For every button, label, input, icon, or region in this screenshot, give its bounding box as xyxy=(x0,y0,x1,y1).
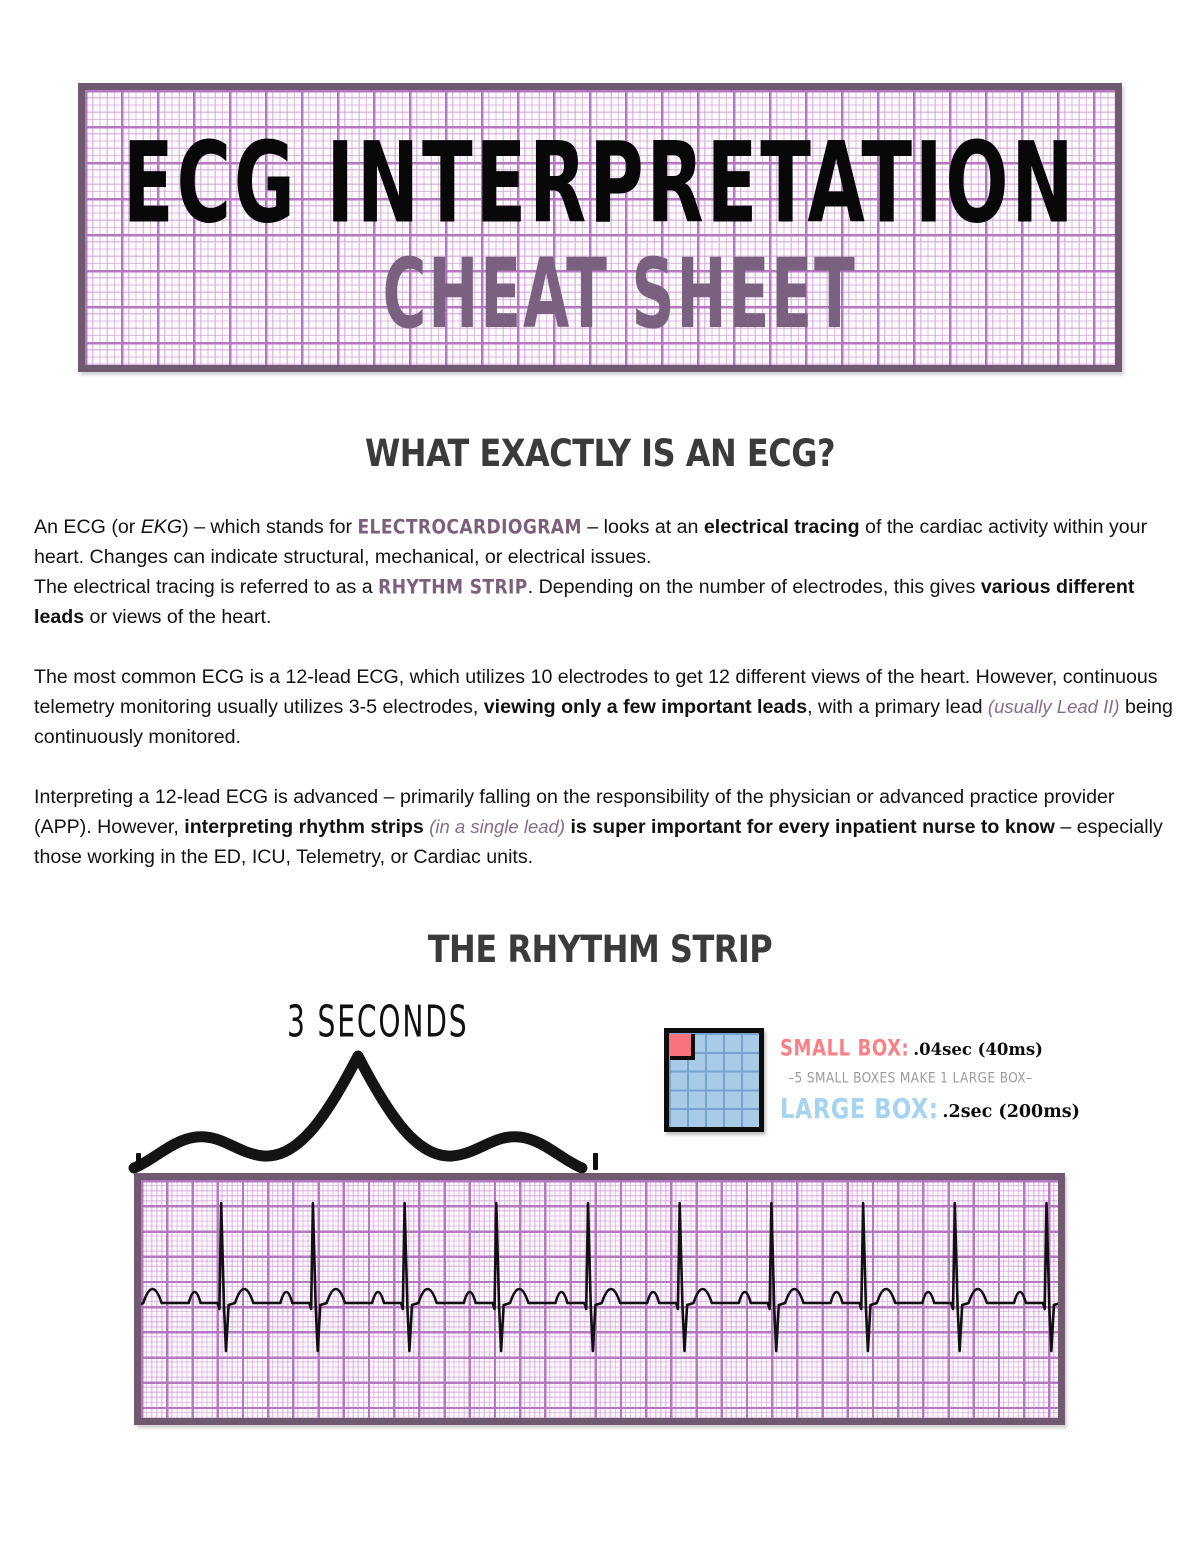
brace-tick-right xyxy=(593,1153,598,1170)
paragraph-2: The electrical tracing is referred to as… xyxy=(34,572,1174,632)
p4-accent-in-a-single-lead: (in a single lead) xyxy=(429,816,565,837)
header-banner: ECG INTERPRETATION CHEAT SHEET xyxy=(78,83,1122,372)
legend-row-middle-note: –5 SMALL BOXES MAKE 1 LARGE BOX– xyxy=(788,1069,1032,1087)
legend-small-box-label: SMALL BOX: xyxy=(780,1035,909,1061)
legend-row-small-box: SMALL BOX:.04sec (40ms) xyxy=(780,1036,1043,1060)
p4-bold-interpreting-rhythm-strips: interpreting rhythm strips xyxy=(184,816,424,838)
brace-tick-left xyxy=(136,1153,141,1170)
three-seconds-brace-icon xyxy=(128,1040,608,1175)
box-size-legend: SMALL BOX:.04sec (40ms) –5 SMALL BOXES M… xyxy=(664,1028,1004,1150)
p1-seg-a: An ECG (or xyxy=(34,516,141,538)
ecg-rhythm-strip xyxy=(134,1173,1065,1425)
p2-seg-b: . Depending on the number of electrodes,… xyxy=(528,576,981,598)
p1-seg-b: ) – which stands for xyxy=(182,516,357,538)
legend-large-box-label: LARGE BOX: xyxy=(780,1093,938,1125)
p1-bold-electrical-tracing: electrical tracing xyxy=(704,516,860,538)
p2-seg-c: or views of the heart. xyxy=(84,606,271,628)
legend-small-box-value: .04sec (40ms) xyxy=(913,1040,1043,1059)
p2-seg-a: The electrical tracing is referred to as… xyxy=(34,576,378,598)
legend-middle-note: –5 SMALL BOXES MAKE 1 LARGE BOX– xyxy=(788,1069,1032,1086)
paragraph-spacer-2 xyxy=(34,752,1174,782)
ecg-waveform-icon xyxy=(141,1180,1058,1418)
paragraph-3: The most common ECG is a 12-lead ECG, wh… xyxy=(34,662,1174,752)
legend-large-box-value: .2sec (200ms) xyxy=(942,1102,1079,1122)
banner-title-secondary: CHEAT SHEET xyxy=(383,246,857,343)
p2-accent-rhythm-strip: RHYTHM STRIP xyxy=(378,571,528,603)
banner-inner: ECG INTERPRETATION CHEAT SHEET xyxy=(85,90,1115,365)
p1-ekg-italic: EKG xyxy=(141,516,182,538)
p3-seg-b: , with a primary lead xyxy=(807,696,988,718)
body-copy: An ECG (or EKG) – which stands for ELECT… xyxy=(34,512,1174,872)
p4-bold-is-super-important: is super important for every inpatient n… xyxy=(570,816,1055,838)
p1-accent-electrocardiogram: ELECTROCARDIOGRAM xyxy=(357,511,581,543)
ecg-grid-swatch-icon xyxy=(664,1028,764,1132)
ecg-waveform-path xyxy=(141,1203,1058,1351)
legend-row-large-box: LARGE BOX:.2sec (200ms) xyxy=(780,1094,1080,1123)
p3-bold-viewing-few-leads: viewing only a few important leads xyxy=(484,696,807,718)
banner-title-primary: ECG INTERPRETATION xyxy=(123,132,1077,237)
section-heading-what-is-an-ecg: WHAT EXACTLY IS AN ECG? xyxy=(24,432,1176,475)
paragraph-spacer-1 xyxy=(34,632,1174,662)
swatch-small-box-highlight xyxy=(670,1034,695,1060)
p1-seg-c: – looks at an xyxy=(582,516,704,538)
paragraph-1: An ECG (or EKG) – which stands for ELECT… xyxy=(34,512,1174,572)
paragraph-4: Interpreting a 12-lead ECG is advanced –… xyxy=(34,782,1174,872)
section-heading-the-rhythm-strip: THE RHYTHM STRIP xyxy=(24,928,1176,971)
p3-accent-usually-lead-two: (usually Lead II) xyxy=(988,696,1120,717)
